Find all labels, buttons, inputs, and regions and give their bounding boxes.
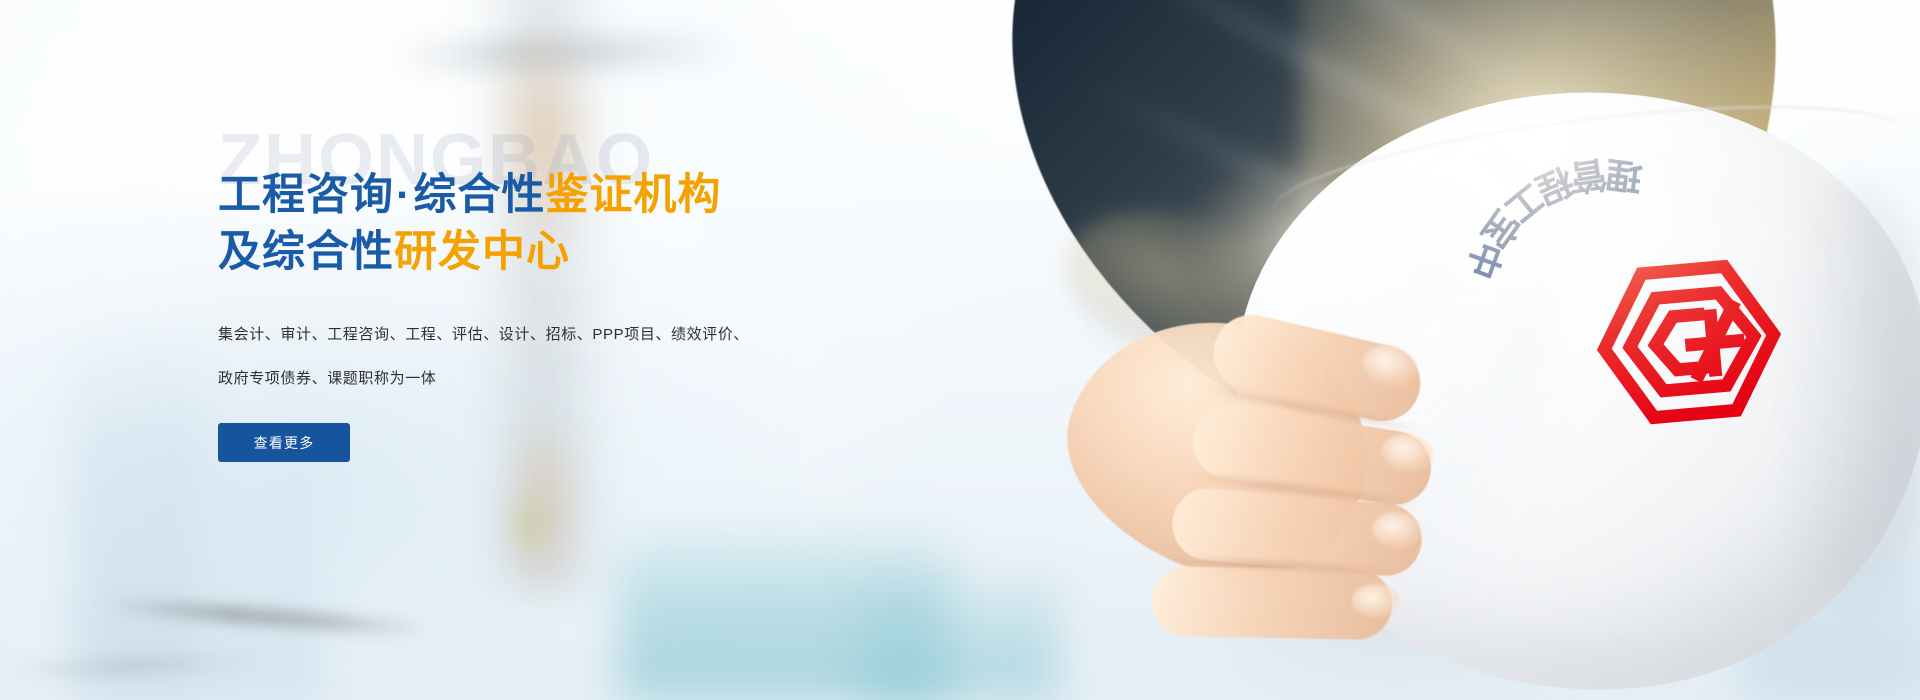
sun-flare-secondary bbox=[1192, 150, 1422, 330]
hero-content: ZHONGBAO 工程咨询·综合性鉴证机构 及综合性研发中心 集会计、审计、工程… bbox=[218, 124, 978, 462]
blurred-building-left bbox=[75, 330, 205, 700]
headline-line-1: 工程咨询·综合性鉴证机构 bbox=[218, 167, 978, 224]
hero-banner: 中宝工程管理 bbox=[0, 0, 1920, 700]
headline-line1-accent: 鉴证机构 bbox=[545, 171, 721, 219]
description-line-2: 政府专项债券、课题职称为一体 bbox=[218, 357, 978, 401]
headline-line1-part2: 综合性 bbox=[413, 171, 545, 219]
headline-line2-accent: 研发中心 bbox=[394, 228, 570, 276]
headline-separator-dot: · bbox=[394, 171, 413, 219]
description-line-1: 集会计、审计、工程咨询、工程、评估、设计、招标、PPP项目、绩效评价、 bbox=[218, 313, 978, 357]
headline-line1-part1: 工程咨询 bbox=[218, 171, 394, 219]
headline-line2-part1: 及综合性 bbox=[218, 228, 394, 276]
hero-description: 集会计、审计、工程咨询、工程、评估、设计、招标、PPP项目、绩效评价、 政府专项… bbox=[218, 281, 978, 401]
page-title: 工程咨询·综合性鉴证机构 及综合性研发中心 bbox=[218, 124, 978, 281]
crane-green-accent bbox=[506, 490, 546, 560]
view-more-button[interactable]: 查看更多 bbox=[218, 423, 350, 462]
headline-line-2: 及综合性研发中心 bbox=[218, 224, 978, 281]
